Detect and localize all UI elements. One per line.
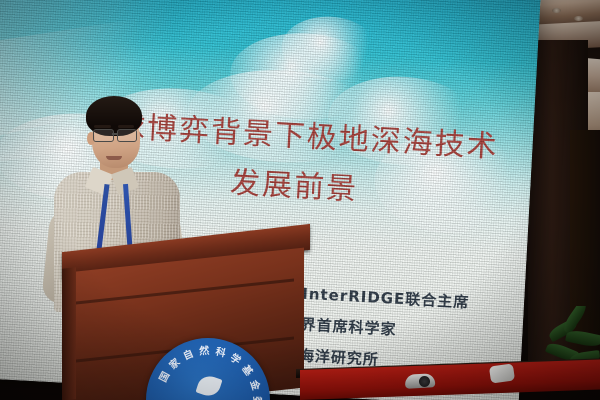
organization-badge: 国家自然科学基金委员会 论坛	[146, 338, 270, 400]
ceiling-light-icon	[574, 16, 583, 21]
speaker-mouth	[106, 156, 122, 160]
podium-side-panel	[62, 267, 76, 400]
speaker-eyebrow	[94, 125, 111, 128]
conference-photo-scene: 球博弈背景下极地深海技术 发展前景 家彪 国际大洋中脊InterRIDGE联合主…	[0, 0, 600, 400]
wave-logo-icon	[176, 376, 232, 400]
speaker-eyebrow	[118, 125, 134, 128]
badge-ring-char: 委	[248, 393, 264, 400]
stage-light-lens	[419, 376, 430, 387]
eyeglasses-bridge	[112, 133, 118, 135]
eyeglasses-lens-right	[117, 129, 137, 142]
eyeglasses-lens-left	[93, 129, 114, 142]
slide-title-line-2: 发展前景	[229, 158, 359, 209]
stage-light-fixture	[489, 363, 515, 383]
ceiling-light-icon	[552, 8, 561, 13]
